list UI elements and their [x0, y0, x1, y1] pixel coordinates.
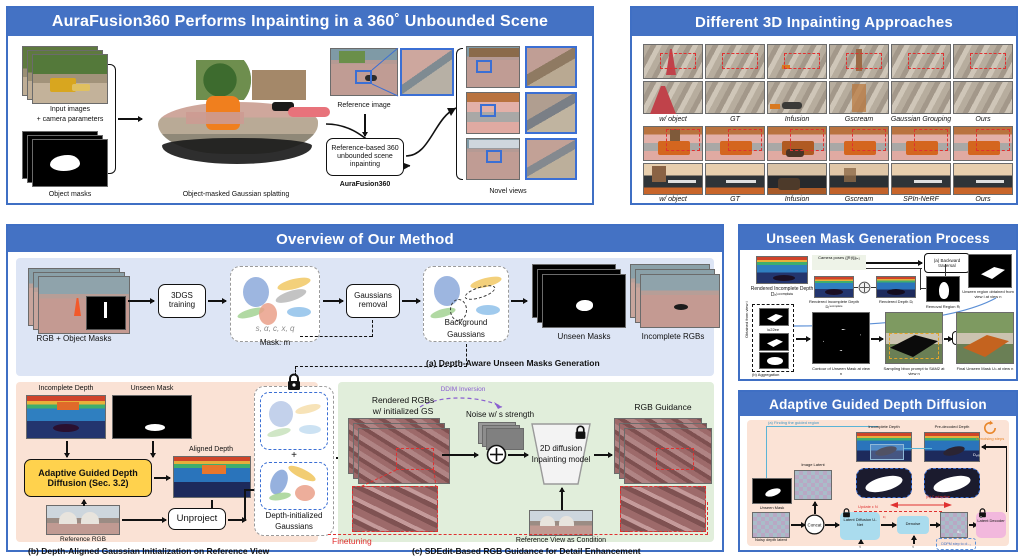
row1-caption-5: Ours	[975, 116, 990, 123]
arrow-contour-to-bbox	[871, 338, 883, 340]
denoising-steps-icon	[982, 420, 998, 436]
arrow-removal-to-background	[402, 300, 420, 302]
final-unseen-mask-image	[956, 312, 1014, 364]
label-mask-m: Mask: m	[260, 338, 290, 347]
label-sampling-bbox: Sampling bbox prompt to SAM2 at view n	[883, 366, 945, 376]
pipeline-box: Reference-based 360 unbounded scene inpa…	[326, 138, 404, 176]
reference-crop-leaders	[368, 48, 402, 98]
arrow-unet-to-denoise	[881, 524, 896, 526]
pre-decoded-depth-image	[924, 432, 980, 462]
agdd-title: Adaptive Guided Depth Diffusion	[769, 397, 987, 412]
label-diffusion-2: Inpainting model	[532, 455, 591, 464]
overview-title-bar: Overview of Our Method	[8, 226, 722, 252]
arrow-imagelatent-to-concat	[814, 502, 816, 514]
row2-caption-3: Gscream	[845, 196, 873, 203]
label-pre-decoded-depth: Pre-decoded Depth	[935, 424, 970, 429]
hline-to-removal	[920, 288, 926, 289]
label-reference-rgb: Reference RGB	[60, 536, 106, 543]
arrow-input-to-3dgs	[128, 300, 154, 302]
arrow-3dgs-to-gaussians	[208, 300, 226, 302]
box-gaussians-removal-label: Gaussians removal	[349, 292, 397, 310]
backward-traversal-label: (a) Backward traversal	[927, 258, 967, 268]
caption-stage-b: (b) Depth-Aligned Gaussian Initializatio…	[28, 546, 269, 556]
concat-node: Concat	[804, 514, 825, 535]
label-aggregation: (b) Aggregation	[752, 372, 779, 377]
approaches-title: Different 3D Inpainting Approaches	[695, 14, 953, 31]
label-aligned-depth: Aligned Depth	[189, 446, 233, 453]
label-d-pre: Dₚᵣₑ	[973, 452, 980, 457]
contour-unseen-mask-image	[812, 312, 870, 364]
sampling-bbox-image	[885, 312, 943, 364]
label-plus-gaussians: +	[291, 450, 297, 461]
label-reference-image: Reference image	[337, 102, 390, 109]
row2-caption-4: SPIn-NeRF	[903, 196, 939, 203]
label-t-1: t	[859, 544, 860, 549]
arrow-t2-to-denoise	[913, 536, 915, 544]
label-finetuning: Finetuning	[332, 536, 372, 546]
label-input-images: Input images	[50, 106, 90, 113]
label-novel-views: Novel views	[489, 188, 526, 195]
row2-caption-5: Ours	[975, 196, 990, 203]
rendered-rgb-zoom	[352, 486, 438, 532]
incomplete-depth-image	[26, 395, 106, 439]
teaser-title: AuraFusion360 Performs Inpainting in a 3…	[52, 13, 548, 31]
lock-icon-diffusion	[574, 425, 587, 440]
teaser-body: Input images + camera parameters Object …	[8, 36, 592, 203]
label-loss-adaptive: (b) ℒadaptive	[926, 494, 950, 499]
gaussian-splatting-render	[148, 50, 328, 178]
xor-operator-icon	[858, 281, 871, 294]
link-incdepth-predecoded	[904, 448, 932, 449]
box-gaussians-removal: Gaussians removal	[346, 284, 400, 318]
unseen-mask-image-b	[112, 395, 192, 439]
elbow-unproject	[244, 489, 246, 521]
label-rgb-guidance: RGB Guidance	[634, 402, 691, 412]
backward-traversal-box: (a) Backward traversal	[924, 253, 970, 273]
label-finding-region: (a) Finding the guided region	[768, 420, 819, 425]
label-camera-poses: Camera poses {[R|t]ᵢ}ᵢ₌₁	[811, 256, 867, 261]
box-3dgs-training: 3DGS training	[158, 284, 206, 318]
arrow-render-to-plus	[442, 454, 478, 456]
rendered-depth-i	[876, 276, 916, 298]
dash-locked-horizontal	[295, 366, 467, 367]
label-contour: Contour of Unseen Mask at view n	[812, 366, 870, 376]
dash-mask-to-removal	[300, 336, 372, 337]
label-ddim-inversion: DDIM Inversion	[441, 386, 486, 393]
arrow-background-to-unseen	[511, 300, 527, 302]
figure-root: AuraFusion360 Performs Inpainting in a 3…	[0, 0, 1024, 556]
label-aurafusion360: AuraFusion360	[340, 181, 391, 188]
label-latent-diffusion-unet: Latent Diffusion U-Net	[841, 517, 879, 527]
approaches-title-bar: Different 3D Inpainting Approaches	[632, 8, 1016, 36]
label-rendered-rgbs-1: Rendered RGBs	[372, 395, 434, 405]
box-3dgs-training-label: 3DGS training	[161, 292, 203, 310]
agdd-mask-crop-left	[856, 468, 912, 498]
vline-removal-up	[945, 264, 946, 276]
label-reference-condition: Reference View as Condition	[516, 537, 606, 544]
row2-caption-2: Infusion	[785, 196, 810, 203]
agdd-box: Adaptive Guided Depth Diffusion (Sec. 3.…	[24, 459, 152, 497]
reference-rgb-image	[46, 505, 120, 535]
label-denoising-steps: Denoising steps	[976, 436, 1004, 441]
loss-adaptive-arrows	[886, 500, 956, 510]
arrow-mask-to-agdd	[152, 441, 154, 457]
arrow-reference-to-pipeline	[364, 114, 366, 136]
label-depth-initialized-2: Gaussians	[275, 522, 313, 531]
hline-top-join	[866, 268, 922, 269]
reference-zoom-crop	[400, 48, 454, 96]
label-object-masks: Object masks	[49, 191, 91, 198]
label-update: Update ε N	[858, 504, 878, 509]
unseen-region-image	[968, 254, 1012, 288]
finding-region-bracket-top	[766, 426, 878, 427]
arrow-plus-to-diffusion	[508, 454, 528, 456]
label-obtained-from-view: Obtained from view i	[744, 302, 749, 338]
teaser-title-bar: AuraFusion360 Performs Inpainting in a 3…	[8, 8, 592, 36]
lock-icon-unet	[842, 508, 851, 518]
unseen-mask-body: Rendered Incomplete Depth Dₙⁱⁿᶜᵒᵐᵖˡᵉᵗᵉ C…	[740, 250, 1016, 379]
arrow-gaussians-to-removal	[323, 300, 343, 302]
label-rgb-object-masks: RGB + Object Masks	[37, 334, 112, 343]
novel-views-bracket	[456, 48, 463, 180]
label-camera-parameters: + camera parameters	[37, 116, 104, 123]
label-rendered-rgbs-2: w/ initialized GS	[373, 406, 433, 416]
label-latent-decoder: Latent Decoder	[977, 518, 1005, 523]
plus-operator-icon	[486, 444, 507, 465]
vline-to-removal	[920, 268, 921, 290]
arrow-agdd-to-aligned	[154, 477, 170, 479]
agdd-incdepth-highlight	[870, 444, 904, 460]
label-gaussian-params: s, α, c, x, q	[256, 324, 295, 333]
arrow-t1-to-unet	[860, 540, 862, 544]
dash-bg-to-locked	[466, 344, 467, 366]
arrow-concat-to-unet	[825, 524, 839, 526]
label-background-gaussians-2: Gaussians	[447, 330, 485, 339]
image-latent-image	[794, 470, 832, 500]
finetuning-loop	[328, 534, 708, 535]
input-bracket	[108, 64, 116, 174]
label-unseen-mask-b: Unseen Mask	[131, 385, 174, 392]
label-depth-initialized-1: Depth-initialized	[266, 511, 323, 520]
label-unseen-masks: Unseen Masks	[558, 332, 611, 341]
unproject-label: Unproject	[177, 514, 218, 525]
rendered-incomplete-depth-n	[756, 256, 808, 284]
denoised-latent-image	[940, 512, 968, 538]
row2-caption-1: GT	[730, 196, 740, 203]
row1-caption-2: Infusion	[785, 116, 810, 123]
noisy-depth-latent-out-image	[980, 516, 982, 518]
arrow-denoise-to-latent	[930, 524, 940, 526]
decoder-to-predecoded-line	[1006, 446, 1007, 512]
label-diffusion-1: 2D diffusion	[540, 444, 582, 453]
label-noise-strength: Noise w/ s strength	[466, 410, 534, 419]
aligned-depth-image	[173, 456, 251, 498]
depth-initialized-gaussians-sub	[260, 462, 328, 510]
label-incomplete-depth-b: Incomplete Depth	[39, 385, 94, 392]
dash-locked-down	[295, 366, 296, 376]
svg-text:Concat: Concat	[808, 523, 823, 528]
overview-body: RGB + Object Masks 3DGS training s, α, c…	[8, 252, 722, 550]
row1-caption-4: Gaussian Grouping	[891, 116, 951, 123]
panel-approaches: Different 3D Inpainting Approaches	[630, 6, 1018, 205]
label-d-out: dₜ₀	[957, 529, 962, 534]
arrow-refrgb-to-unproject	[122, 519, 166, 521]
row2-caption-0: w/ object	[659, 196, 687, 203]
row1-caption-0: w/ object	[659, 116, 687, 123]
panel-teaser: AuraFusion360 Performs Inpainting in a 3…	[6, 6, 594, 205]
label-t-2: t	[912, 544, 913, 549]
arrow-inputs-to-splat	[118, 118, 142, 120]
label-denoise: Denoise	[906, 521, 921, 526]
row1-caption-1: GT	[730, 116, 740, 123]
rendered-incomplete-depth-i	[814, 276, 854, 298]
dash-removal-up	[372, 320, 373, 337]
panel-unseen-mask: Unseen Mask Generation Process Rendered …	[738, 224, 1018, 381]
rgb-guidance-cropbox	[656, 448, 694, 470]
overview-title: Overview of Our Method	[276, 231, 454, 248]
label-object-masked-splatting: Object-masked Gaussian splatting	[183, 191, 290, 198]
label-image-latent: Image Latent	[801, 462, 824, 467]
label-agdd-incomplete-depth: Incomplete Depth	[868, 424, 899, 429]
noisy-depth-latent-image	[752, 512, 790, 538]
row1-caption-3: Gscream	[845, 116, 873, 123]
finetuning-loop-riser	[707, 502, 708, 535]
arrow-diffusion-to-guidance	[594, 454, 612, 456]
unseen-mask-title-bar: Unseen Mask Generation Process	[740, 226, 1016, 250]
background-gaussians-sub	[260, 392, 328, 450]
label-background-gaussians-1: Background	[445, 318, 488, 327]
panel-agdd: Adaptive Guided Depth Diffusion (a) Find…	[738, 390, 1018, 552]
finding-region-bracket	[766, 426, 767, 478]
arrow-aggregation-to-contour	[796, 338, 810, 340]
panel-overview: Overview of Our Method RGB + Object Mask…	[6, 224, 724, 552]
label-final-unseen-mask: Final Unseen Mask Uₙ at view n	[956, 366, 1014, 371]
caption-stage-c: (c) SDEdit-Based RGB Guidance for Detail…	[412, 546, 641, 556]
approaches-body: w/ object GT Infusion Gscream Gaussian G…	[632, 36, 1016, 203]
ddpm-step-box: DDPM step to dₜ₋₁	[936, 538, 976, 550]
label-agdd-unseen-mask: Unseen Mask	[760, 505, 784, 510]
arrow-refcond-to-diffusion	[561, 488, 563, 510]
pipeline-box-label: Reference-based 360 unbounded scene inpa…	[329, 145, 401, 168]
rgb-guidance-zoom	[620, 486, 706, 532]
unseen-mask-title: Unseen Mask Generation Process	[766, 231, 990, 246]
agdd-unseen-mask-image	[752, 478, 792, 504]
connector-depth-i-xor	[854, 287, 858, 288]
unproject-box: Unproject	[168, 508, 226, 530]
arrow-pipeline-to-novel	[404, 98, 460, 160]
agdd-title-bar: Adaptive Guided Depth Diffusion	[740, 392, 1016, 416]
arrow-poses-to-backward	[866, 262, 922, 264]
reference-condition-image	[529, 510, 593, 536]
agdd-box-label: Adaptive Guided Depth Diffusion (Sec. 3.…	[26, 468, 150, 489]
aggregation-group: \u22ee	[752, 304, 794, 372]
arrow-bbox-to-sam2	[944, 338, 952, 340]
arrow-refrgb-to-agdd	[83, 500, 85, 506]
agdd-body: (a) Finding the guided region Unseen Mas…	[740, 416, 1016, 550]
label-eps: εᵢ	[883, 514, 885, 519]
arrow-depth-to-agdd	[66, 441, 68, 457]
label-incomplete-rgbs: Incomplete RGBs	[642, 332, 705, 341]
arrow-decoder-to-predecoded	[982, 446, 1006, 448]
ddpm-step-label: DDPM step to dₜ₋₁	[941, 542, 971, 546]
arrow-noisy-to-concat	[791, 524, 805, 526]
lock-icon-gaussians	[286, 373, 302, 391]
label-noisy-depth-latent-in: Noisy depth latent	[746, 538, 796, 543]
